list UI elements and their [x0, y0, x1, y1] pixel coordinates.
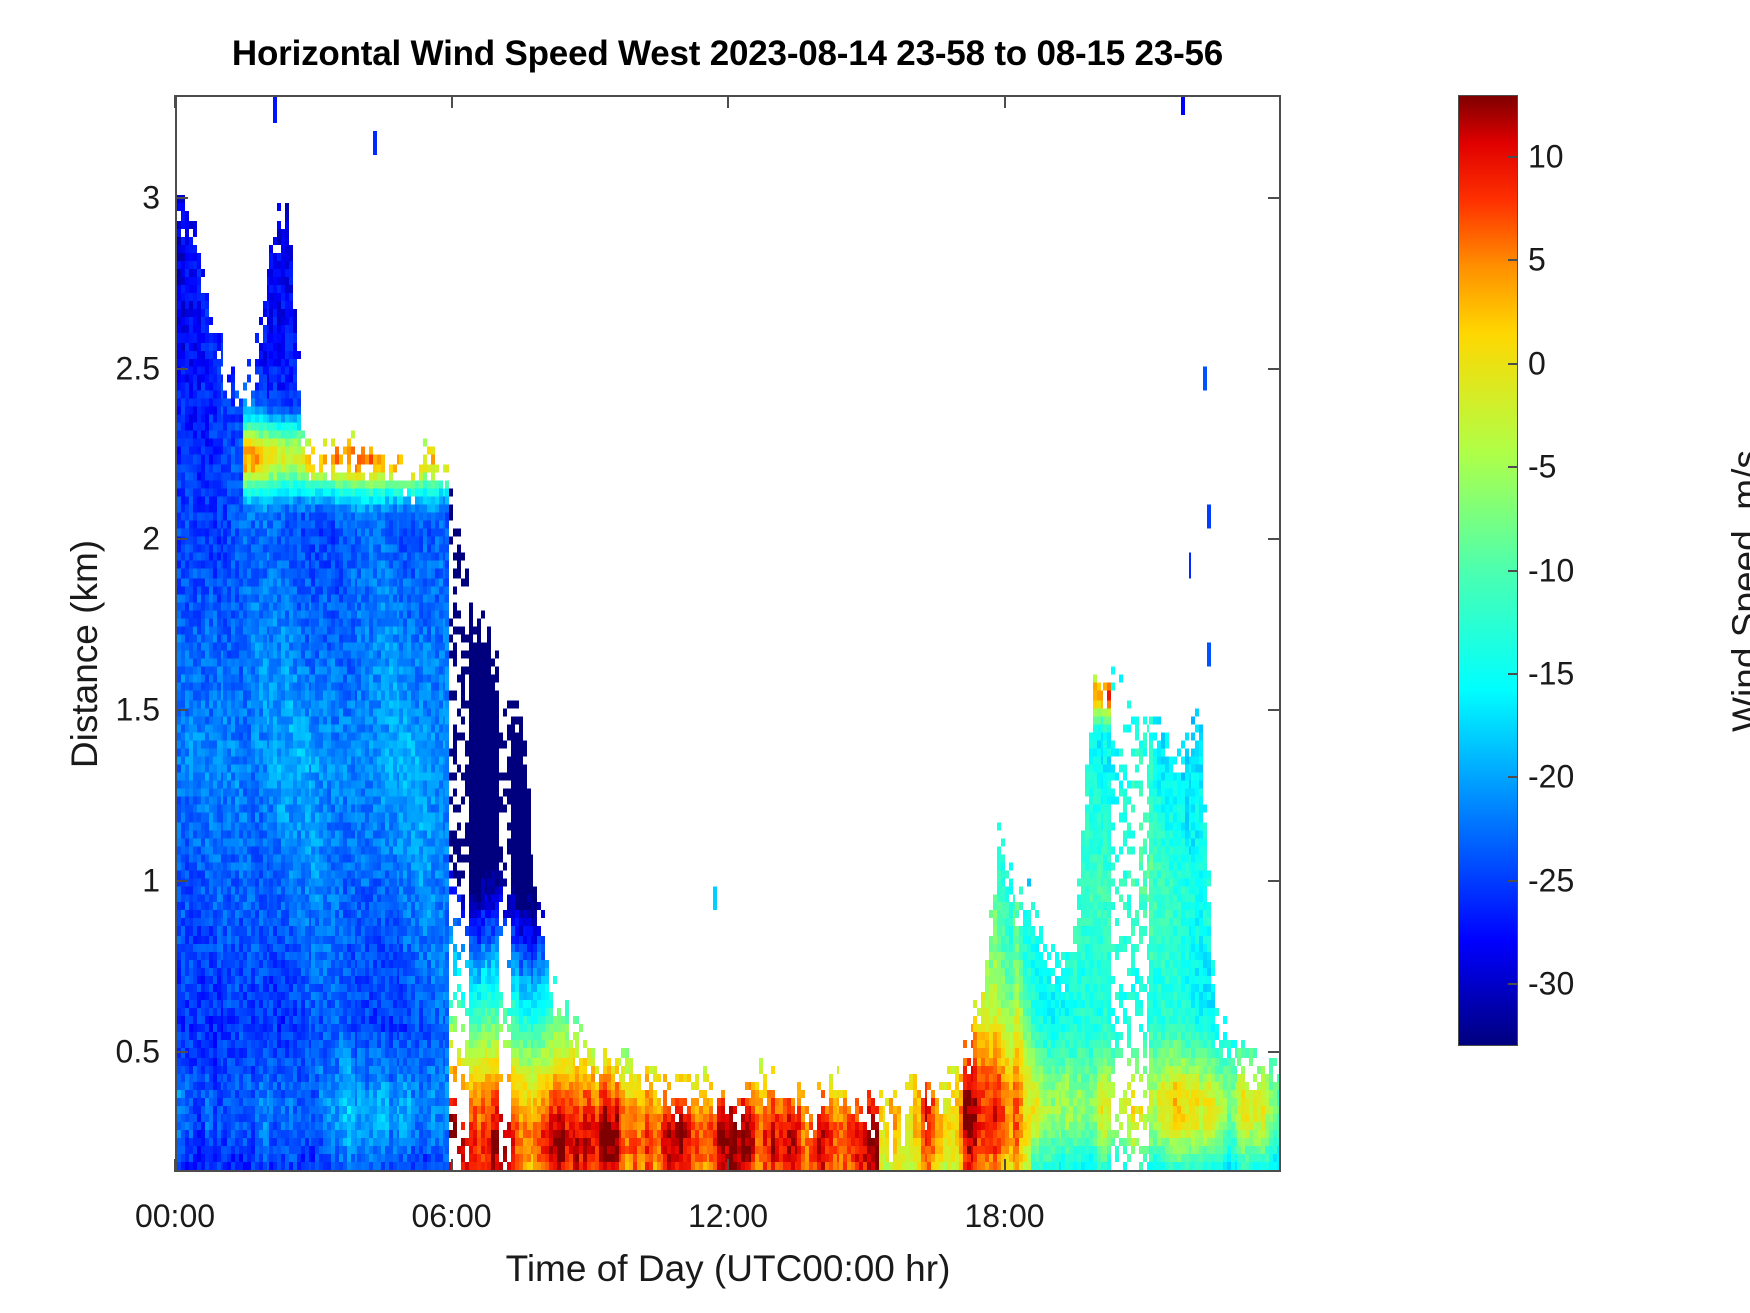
- figure-container: Horizontal Wind Speed West 2023-08-14 23…: [0, 0, 1750, 1313]
- y-tick-mark: [175, 197, 188, 199]
- colorbar-tick-mark: [1508, 570, 1518, 572]
- colorbar-tick-mark: [1508, 466, 1518, 468]
- x-tick-label: 06:00: [411, 1198, 491, 1235]
- y-tick-mark-right: [1268, 1051, 1281, 1053]
- colorbar-tick-label: 0: [1528, 345, 1546, 382]
- colorbar-tick-label: -30: [1528, 965, 1574, 1002]
- heatmap-plot-area[interactable]: [175, 95, 1281, 1172]
- x-tick-mark-top: [174, 95, 176, 108]
- colorbar-tick-label: -5: [1528, 449, 1556, 486]
- x-tick-mark: [451, 1159, 453, 1172]
- x-tick-mark: [1004, 1159, 1006, 1172]
- y-tick-mark-right: [1268, 197, 1281, 199]
- y-tick-mark: [175, 538, 188, 540]
- x-tick-label: 00:00: [135, 1198, 215, 1235]
- colorbar-label: Wind Speed, m/s: [1725, 241, 1750, 941]
- colorbar-tick-mark: [1508, 673, 1518, 675]
- y-tick-mark-right: [1268, 709, 1281, 711]
- colorbar-tick-mark: [1508, 983, 1518, 985]
- x-tick-label: 12:00: [688, 1198, 768, 1235]
- y-tick-label: 3: [0, 179, 160, 216]
- x-tick-label: 18:00: [964, 1198, 1044, 1235]
- x-tick-mark-top: [1004, 95, 1006, 108]
- x-tick-mark-top: [451, 95, 453, 108]
- colorbar-tick-label: -15: [1528, 655, 1574, 692]
- colorbar-tick-label: -25: [1528, 862, 1574, 899]
- y-tick-mark-right: [1268, 538, 1281, 540]
- colorbar-tick-mark: [1508, 259, 1518, 261]
- colorbar-tick-mark: [1508, 880, 1518, 882]
- y-tick-mark-right: [1268, 880, 1281, 882]
- colorbar-tick-mark: [1508, 776, 1518, 778]
- colorbar-tick-label: -10: [1528, 552, 1574, 589]
- y-tick-label: 0.5: [0, 1034, 160, 1071]
- y-tick-mark: [175, 880, 188, 882]
- y-tick-mark: [175, 368, 188, 370]
- colorbar-tick-label: 5: [1528, 242, 1546, 279]
- y-tick-mark: [175, 1051, 188, 1053]
- colorbar-tick-label: 10: [1528, 139, 1564, 176]
- page-title: Horizontal Wind Speed West 2023-08-14 23…: [175, 34, 1280, 74]
- heatmap-canvas: [177, 97, 1279, 1170]
- colorbar-tick-mark: [1508, 363, 1518, 365]
- x-axis-label: Time of Day (UTC00:00 hr): [175, 1248, 1281, 1290]
- y-tick-mark-right: [1268, 368, 1281, 370]
- x-tick-mark: [727, 1159, 729, 1172]
- y-axis-label: Distance (km): [64, 304, 106, 1004]
- colorbar-tick-label: -20: [1528, 759, 1574, 796]
- colorbar-tick-mark: [1508, 156, 1518, 158]
- x-tick-mark-top: [727, 95, 729, 108]
- x-tick-mark: [174, 1159, 176, 1172]
- y-tick-mark: [175, 709, 188, 711]
